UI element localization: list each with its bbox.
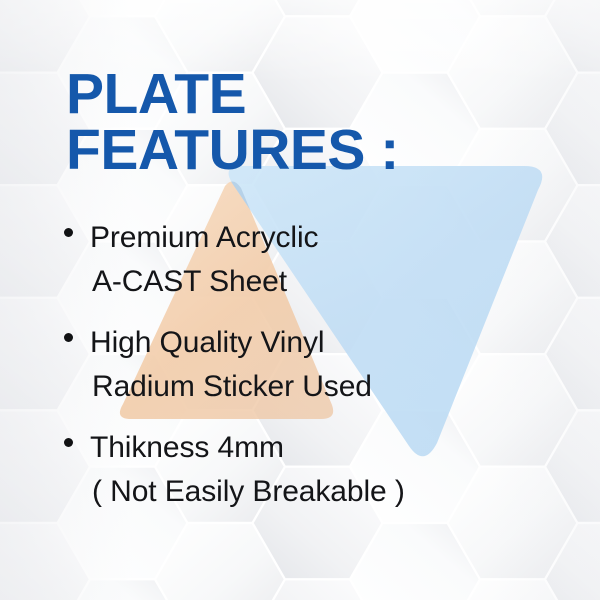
feature-2-line-1: High Quality Vinyl — [90, 321, 558, 365]
title-line-1: PLATE — [66, 66, 399, 122]
page-title: PLATE FEATURES : — [66, 66, 399, 179]
list-item: High Quality Vinyl Radium Sticker Used — [58, 321, 558, 410]
feature-3-line-1: Thikness 4mm — [90, 426, 558, 470]
plate-features-poster: PLATE FEATURES : Premium Acryclic A-CAST… — [0, 0, 600, 600]
feature-1-line-2: A-CAST Sheet — [90, 260, 558, 304]
list-item: Premium Acryclic A-CAST Sheet — [58, 216, 558, 305]
bullet-icon — [64, 438, 73, 447]
poster-content: PLATE FEATURES : Premium Acryclic A-CAST… — [0, 0, 600, 600]
feature-3-line-2: ( Not Easily Breakable ) — [90, 470, 558, 514]
title-line-2: FEATURES : — [66, 122, 399, 178]
feature-2-line-2: Radium Sticker Used — [90, 365, 558, 409]
feature-1-line-1: Premium Acryclic — [90, 216, 558, 260]
features-list: Premium Acryclic A-CAST Sheet High Quali… — [58, 216, 558, 530]
bullet-icon — [64, 228, 73, 237]
bullet-icon — [64, 333, 73, 342]
list-item: Thikness 4mm ( Not Easily Breakable ) — [58, 426, 558, 515]
